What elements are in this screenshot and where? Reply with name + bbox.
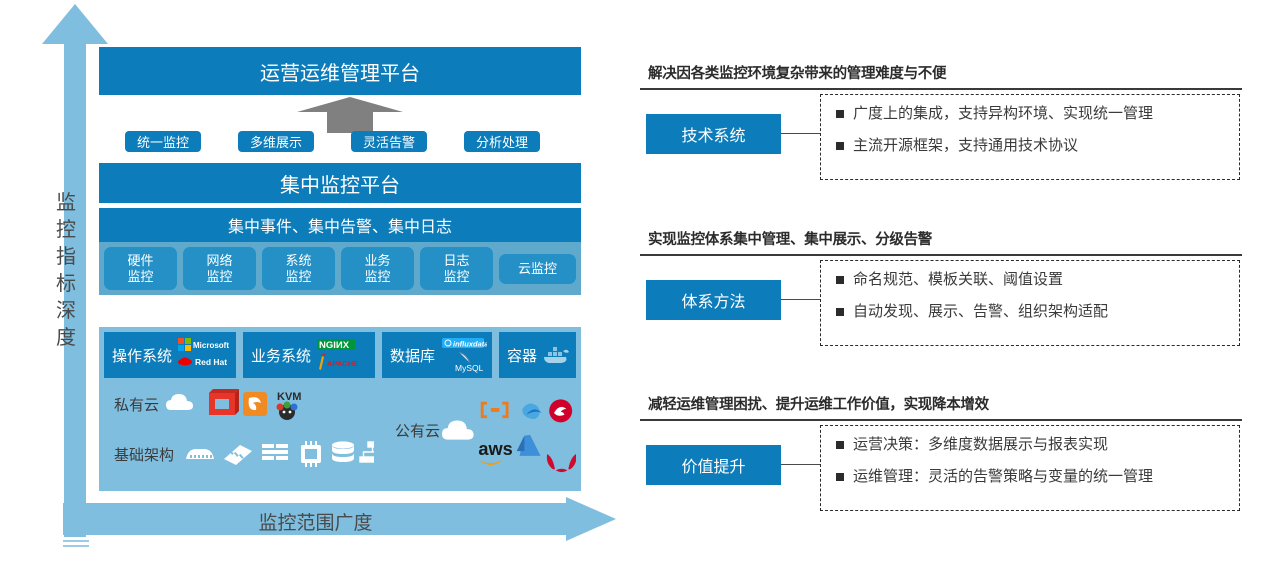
monitor-chip-band: 硬件监控 网络监控 系统监控 业务监控 日志监控 云监控 — [99, 242, 581, 295]
alibaba-cloud-logo — [522, 403, 541, 419]
chip-line-1: 日志 — [443, 253, 469, 269]
openstack-logo — [209, 389, 239, 415]
cloud-icon — [442, 420, 474, 439]
private-cloud-logos: KVM — [165, 386, 355, 422]
central-platform-bar: 集中监控平台 — [99, 163, 581, 203]
chip-line-1: 硬件 — [127, 253, 153, 269]
breadth-axis-arrow: 监控范围广度 — [63, 497, 616, 541]
bullet-square-icon — [836, 473, 844, 481]
chip-line-2: 监控 — [206, 269, 232, 285]
docker-logo — [541, 342, 573, 368]
bullet-item: 运维管理：灵活的告警策略与变量的统一管理 — [836, 467, 1153, 487]
tech-box-database[interactable]: 数据库 influxdata MySQL — [382, 332, 492, 378]
section-title: 实现监控体系集中管理、集中展示、分级告警 — [648, 228, 1250, 249]
tech-box-label: 业务系统 — [251, 345, 311, 366]
bullet-square-icon — [836, 441, 844, 449]
network-icon — [360, 442, 374, 462]
svg-text:NGIИX: NGIИX — [319, 340, 350, 351]
svg-text:MySQL: MySQL — [455, 363, 484, 373]
bullet-item: 主流开源框架，支持通用技术协议 — [836, 136, 1153, 156]
tech-box-logos: Microsoft Red Hat — [176, 335, 234, 375]
bullet-text: 广度上的集成，支持异构环境、实现统一管理 — [853, 104, 1153, 124]
monitor-chip-hardware[interactable]: 硬件监控 — [104, 247, 177, 290]
capability-pill-1[interactable]: 多维展示 — [238, 131, 314, 152]
chip-line-2: 监控 — [443, 269, 469, 285]
public-cloud-logos: aws — [442, 386, 576, 476]
bullet-square-icon — [836, 142, 844, 150]
nginx-apache-logos: NGIИX APACHE — [315, 335, 365, 375]
server-icon — [186, 449, 214, 459]
monitor-chip-log[interactable]: 日志监控 — [420, 247, 493, 290]
bullet-text: 命名规范、模板关联、阈值设置 — [853, 270, 1063, 290]
section-underline — [640, 419, 1242, 421]
tech-box-logos — [541, 342, 573, 368]
chip-line-2: 监控 — [285, 269, 311, 285]
bullet-text: 自动发现、展示、告警、组织架构适配 — [853, 302, 1108, 322]
infrastructure-box[interactable]: 基础架构 — [104, 431, 378, 477]
monitor-chip-business[interactable]: 业务监控 — [341, 247, 414, 290]
tech-box-business[interactable]: 业务系统 NGIИX APACHE — [243, 332, 375, 378]
chip-line-1: 网络 — [206, 253, 232, 269]
infrastructure-label: 基础架构 — [114, 444, 174, 465]
bullet-text: 运维管理：灵活的告警策略与变量的统一管理 — [853, 467, 1153, 487]
bullet-square-icon — [836, 308, 844, 316]
ops-platform-bar: 运营运维管理平台 — [99, 47, 581, 95]
depth-axis-label: 监 控 指 标 深 度 — [46, 190, 86, 352]
private-cloud-label: 私有云 — [114, 394, 159, 415]
section-title: 减轻运维管理困扰、提升运维工作价值，实现降本增效 — [648, 393, 1250, 414]
section-tag-technology[interactable]: 技术系统 — [646, 114, 781, 154]
infrastructure-logos — [184, 437, 374, 471]
bullet-item: 命名规范、模板关联、阈值设置 — [836, 270, 1108, 290]
section-connector-line — [781, 464, 820, 466]
chip-line-1: 云监控 — [518, 261, 557, 277]
svg-text:KVM: KVM — [277, 391, 301, 403]
influxdata-mysql-logos: influxdata MySQL — [439, 335, 487, 375]
grey-arrow-head — [297, 97, 403, 112]
architecture-diagram: 监 控 指 标 深 度 监控范围广度 运营运维管理平台 统一监控 多维展示 灵活… — [0, 0, 630, 575]
depth-axis-char-5: 度 — [46, 325, 86, 352]
chip-line-1: 系统 — [285, 253, 311, 269]
svg-text:aws: aws — [478, 438, 512, 458]
depth-axis-char-4: 深 — [46, 298, 86, 325]
breadth-arrow-head — [566, 497, 616, 541]
azure-logo — [517, 434, 541, 455]
svg-text:Red Hat: Red Hat — [195, 357, 227, 367]
depth-axis-char-1: 控 — [46, 217, 86, 244]
tech-box-os[interactable]: 操作系统 Microsoft Red Hat — [104, 332, 236, 378]
storage-icon — [332, 441, 354, 462]
bullet-item: 自动发现、展示、告警、组织架构适配 — [836, 302, 1108, 322]
technology-band: 操作系统 Microsoft Red Hat 业务系统 NGIИX — [99, 327, 581, 491]
rack-icon — [262, 444, 288, 460]
axis-base-lines — [63, 540, 89, 552]
section-bullet-list: 命名规范、模板关联、阈值设置 自动发现、展示、告警、组织架构适配 — [836, 270, 1108, 334]
jd-cloud-logo — [549, 399, 572, 422]
section-bullet-list: 广度上的集成，支持异构环境、实现统一管理 主流开源框架，支持通用技术协议 — [836, 104, 1153, 168]
tech-box-logos: NGIИX APACHE — [315, 335, 365, 375]
svg-text:Microsoft: Microsoft — [193, 341, 229, 350]
huawei-cloud-logo — [547, 453, 576, 471]
benefit-section-technology: 解决因各类监控环境复杂带来的管理难度与不便 技术系统 广度上的集成，支持异构环境… — [640, 62, 1250, 182]
tech-box-container[interactable]: 容器 — [499, 332, 576, 378]
bullet-item: 广度上的集成，支持异构环境、实现统一管理 — [836, 104, 1153, 124]
benefit-section-value: 减轻运维管理困扰、提升运维工作价值，实现降本增效 价值提升 运营决策：多维度数据… — [640, 393, 1250, 513]
memory-icon — [224, 445, 252, 465]
tencent-cloud-logo — [482, 403, 507, 416]
public-cloud-box[interactable]: 公有云 aws — [385, 384, 576, 477]
bullet-square-icon — [836, 276, 844, 284]
capability-pill-2[interactable]: 灵活告警 — [351, 131, 427, 152]
capability-pill-0[interactable]: 统一监控 — [125, 131, 201, 152]
chip-line-1: 业务 — [364, 253, 390, 269]
public-cloud-label: 公有云 — [395, 420, 440, 441]
bullet-text: 运营决策：多维度数据展示与报表实现 — [853, 435, 1108, 455]
tech-box-label: 操作系统 — [112, 345, 172, 366]
section-bullet-list: 运营决策：多维度数据展示与报表实现 运维管理：灵活的告警策略与变量的统一管理 — [836, 435, 1153, 499]
bullet-item: 运营决策：多维度数据展示与报表实现 — [836, 435, 1153, 455]
aws-logo: aws — [478, 438, 512, 464]
vmware-logo — [243, 392, 267, 416]
tech-box-label: 数据库 — [390, 345, 435, 366]
section-connector-line — [781, 299, 820, 301]
section-title: 解决因各类监控环境复杂带来的管理难度与不便 — [648, 62, 1250, 83]
section-underline — [640, 254, 1242, 256]
benefits-panel: 解决因各类监控环境复杂带来的管理难度与不便 技术系统 广度上的集成，支持异构环境… — [630, 0, 1276, 575]
breadth-axis-label: 监控范围广度 — [63, 508, 568, 535]
bullet-square-icon — [836, 110, 844, 118]
svg-text:APACHE: APACHE — [327, 359, 358, 368]
depth-axis-char-3: 标 — [46, 271, 86, 298]
grey-arrow-shaft — [327, 111, 373, 133]
cloud-icon — [166, 394, 193, 410]
tech-box-logos: influxdata MySQL — [439, 335, 487, 375]
capability-pill-3[interactable]: 分析处理 — [464, 131, 540, 152]
chip-line-2: 监控 — [127, 269, 153, 285]
section-underline — [640, 88, 1242, 90]
tech-box-label: 容器 — [507, 345, 537, 366]
monitor-chip-network[interactable]: 网络监控 — [183, 247, 256, 290]
depth-axis-char-0: 监 — [46, 190, 86, 217]
depth-arrow-head — [42, 4, 108, 44]
kvm-logo: KVM — [277, 391, 302, 420]
monitor-chip-system[interactable]: 系统监控 — [262, 247, 335, 290]
bullet-text: 主流开源框架，支持通用技术协议 — [853, 136, 1078, 156]
cpu-icon — [301, 441, 321, 467]
chip-line-2: 监控 — [364, 269, 390, 285]
depth-axis-char-2: 指 — [46, 244, 86, 271]
svg-text:influxdata: influxdata — [453, 340, 487, 349]
capability-pill-row: 统一监控 多维展示 灵活告警 分析处理 — [99, 131, 581, 153]
section-tag-methodology[interactable]: 体系方法 — [646, 280, 781, 320]
section-tag-value[interactable]: 价值提升 — [646, 445, 781, 485]
central-events-bar: 集中事件、集中告警、集中日志 — [99, 208, 581, 242]
private-cloud-box[interactable]: 私有云 KVM — [104, 384, 378, 424]
upward-grey-arrow — [297, 97, 403, 133]
monitor-chip-cloud[interactable]: 云监控 — [499, 254, 576, 284]
section-connector-line — [781, 133, 820, 135]
benefit-section-methodology: 实现监控体系集中管理、集中展示、分级告警 体系方法 命名规范、模板关联、阈值设置… — [640, 228, 1250, 348]
microsoft-logo: Microsoft Red Hat — [176, 335, 234, 375]
